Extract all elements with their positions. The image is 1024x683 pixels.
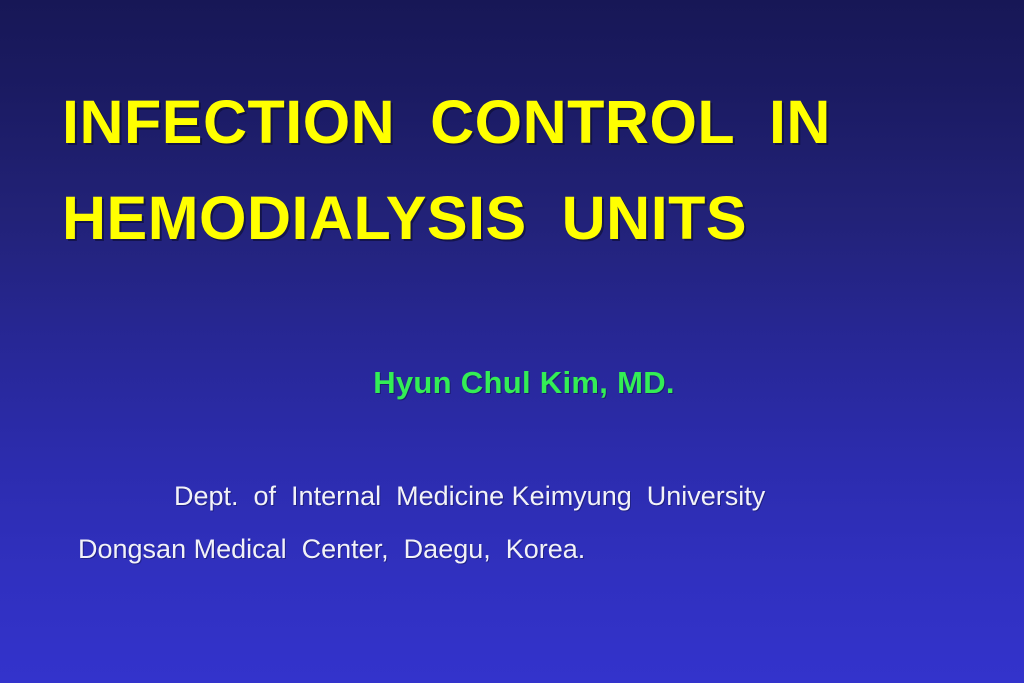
title-line-2: HEMODIALYSIS UNITS <box>62 170 962 266</box>
affiliation-line-1: Dept. of Internal Medicine Keimyung Univ… <box>0 470 1024 523</box>
slide-title: INFECTION CONTROL IN HEMODIALYSIS UNITS <box>62 74 962 266</box>
author-name: Hyun Chul Kim, MD. <box>0 362 1024 404</box>
title-line-1: INFECTION CONTROL IN <box>62 74 962 170</box>
affiliation-line-2: Dongsan Medical Center, Daegu, Korea. <box>0 523 1024 576</box>
presentation-slide: INFECTION CONTROL IN HEMODIALYSIS UNITS … <box>0 0 1024 683</box>
affiliation-block: Dept. of Internal Medicine Keimyung Univ… <box>0 470 1024 576</box>
